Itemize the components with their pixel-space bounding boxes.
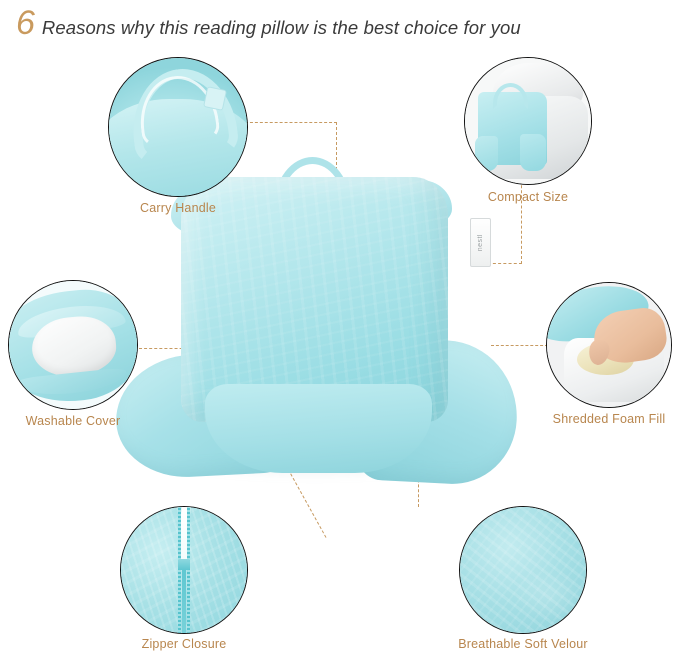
feature-shredded-foam-fill-label: Shredded Foam Fill	[479, 412, 679, 426]
feature-shredded-foam-fill-image[interactable]	[546, 282, 672, 408]
feature-carry-handle-image[interactable]	[108, 57, 248, 197]
carry-handle-artwork	[109, 58, 247, 196]
infographic-page: 6 Reasons why this reading pillow is the…	[0, 0, 679, 652]
feature-carry-handle[interactable]: Carry Handle	[108, 57, 248, 197]
page-title-text: Reasons why this reading pillow is the b…	[42, 19, 521, 38]
brand-tag: nestl	[470, 218, 491, 268]
shredded-foam-fill-artwork	[547, 283, 671, 407]
feature-compact-size[interactable]: Compact Size	[464, 57, 592, 185]
zipper-closure-artwork	[121, 507, 247, 633]
feature-washable-cover-label: Washable Cover	[0, 414, 203, 428]
reasons-count: 6	[16, 6, 35, 40]
compact-size-artwork	[465, 58, 591, 184]
page-title: 6 Reasons why this reading pillow is the…	[16, 6, 521, 40]
feature-zipper-closure[interactable]: Zipper Closure	[120, 506, 248, 634]
breathable-soft-velour-artwork	[460, 507, 586, 633]
feature-compact-size-label: Compact Size	[398, 190, 658, 204]
feature-shredded-foam-fill[interactable]: Shredded Foam Fill	[546, 282, 672, 408]
feature-compact-size-image[interactable]	[464, 57, 592, 185]
feature-breathable-soft-velour-image[interactable]	[459, 506, 587, 634]
pillow-seat-base	[205, 384, 432, 472]
washable-cover-artwork	[9, 281, 137, 409]
feature-zipper-closure-label: Zipper Closure	[54, 637, 314, 651]
feature-breathable-soft-velour-label: Breathable Soft Velour	[393, 637, 653, 651]
feature-washable-cover-image[interactable]	[8, 280, 138, 410]
feature-washable-cover[interactable]: Washable Cover	[8, 280, 138, 410]
brand-tag-text: nestl	[477, 234, 484, 251]
feature-breathable-soft-velour[interactable]: Breathable Soft Velour	[459, 506, 587, 634]
feature-carry-handle-label: Carry Handle	[48, 201, 308, 215]
feature-zipper-closure-image[interactable]	[120, 506, 248, 634]
connector-carry-handle-horizontal	[245, 122, 337, 123]
